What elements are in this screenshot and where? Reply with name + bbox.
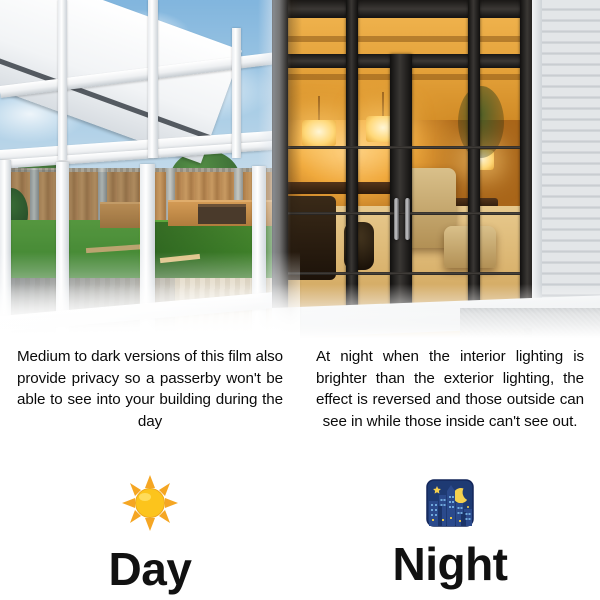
pendant-lamp [302,120,336,146]
night-caption-text: At night when the interior lighting is b… [316,346,584,432]
pendant-lamp-stem [382,92,384,118]
door-meeting-stile [390,54,412,318]
comparison-photo-banner [0,0,600,338]
window-mullion [232,28,241,158]
glazing-bar [288,212,520,215]
door-mullion [468,0,480,318]
garden-bench [198,204,246,224]
glazing-bar [288,146,520,149]
door-mullion [346,0,358,318]
glazing-bar [288,272,520,275]
caption-row: Medium to dark versions of this film als… [0,346,600,432]
badge-row: Day [0,474,600,592]
day-caption-text: Medium to dark versions of this film als… [17,346,283,432]
ceiling-beam [272,36,524,42]
night-label: Night [392,541,507,587]
day-column: Medium to dark versions of this film als… [0,346,300,432]
pendant-lamp-stem [318,96,320,122]
window-mullion [58,0,67,160]
page-root: Medium to dark versions of this film als… [0,0,600,600]
sun-icon [120,474,180,532]
night-badge: Night [300,474,600,592]
door-handle[interactable] [394,198,399,240]
day-badge: Day [0,474,300,592]
day-label: Day [109,546,192,592]
night-with-stars-icon [426,479,474,527]
window-mullion [148,0,158,158]
night-column: At night when the interior lighting is b… [300,346,600,432]
photo-bottom-fade [0,284,600,338]
door-handle[interactable] [405,198,410,240]
